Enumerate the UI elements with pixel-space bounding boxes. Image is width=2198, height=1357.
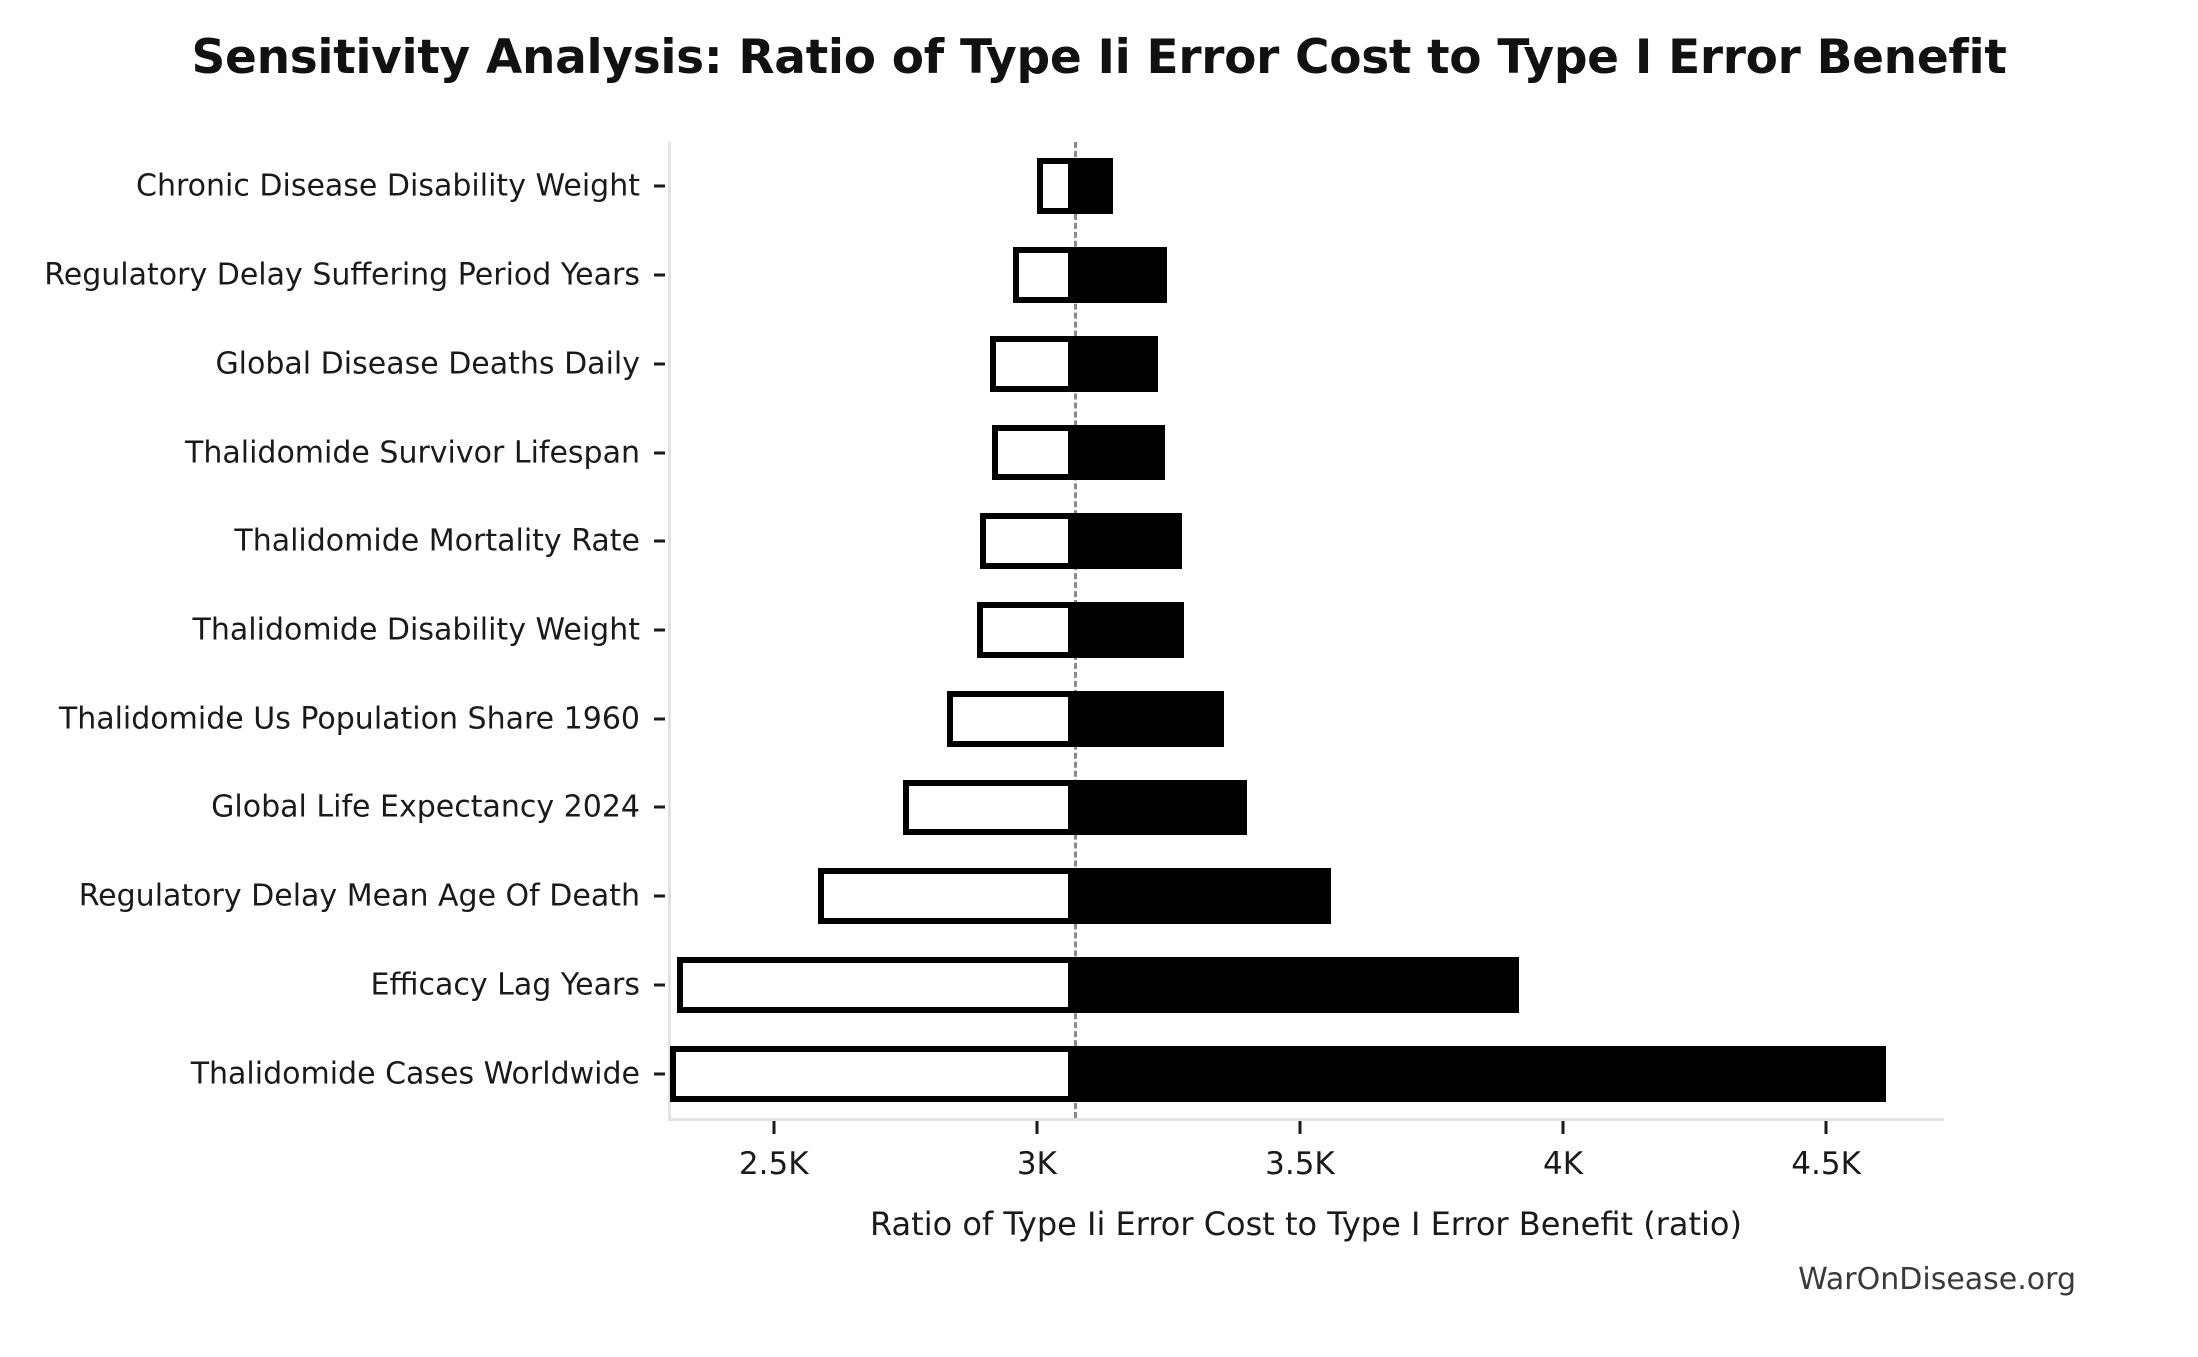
bar-segment-low[interactable] bbox=[977, 602, 1074, 658]
bar-segment-high[interactable] bbox=[1074, 780, 1247, 836]
tornado-bar-row[interactable] bbox=[668, 247, 1944, 303]
x-tick-mark bbox=[772, 1121, 775, 1134]
y-tick-label: Global Disease Deaths Daily bbox=[215, 346, 640, 381]
bar-segment-high[interactable] bbox=[1074, 1046, 1886, 1102]
y-tick-mark bbox=[654, 540, 665, 543]
bar-segment-low[interactable] bbox=[947, 691, 1074, 747]
x-tick-mark bbox=[1035, 1121, 1038, 1134]
tornado-bar-row[interactable] bbox=[668, 602, 1944, 658]
y-tick-mark bbox=[654, 362, 665, 365]
x-tick-label: 3.5K bbox=[1265, 1146, 1335, 1182]
x-tick-mark bbox=[1298, 1121, 1301, 1134]
y-tick-label: Regulatory Delay Suffering Period Years bbox=[44, 258, 640, 293]
bar-segment-low[interactable] bbox=[1037, 158, 1074, 214]
y-tick-mark bbox=[654, 895, 665, 898]
plot-area: 2.5K3K3.5K4K4.5KChronic Disease Disabili… bbox=[668, 142, 1944, 1118]
y-tick-mark bbox=[654, 451, 665, 454]
y-tick-label: Thalidomide Survivor Lifespan bbox=[185, 435, 640, 470]
x-axis-title: Ratio of Type Ii Error Cost to Type I Er… bbox=[668, 1205, 1944, 1243]
y-tick-mark bbox=[654, 806, 665, 809]
y-tick-label: Thalidomide Mortality Rate bbox=[234, 524, 640, 559]
tornado-bar-row[interactable] bbox=[668, 425, 1944, 481]
y-tick-label: Thalidomide Cases Worldwide bbox=[191, 1056, 640, 1091]
bar-segment-low[interactable] bbox=[818, 868, 1074, 924]
tornado-bar-row[interactable] bbox=[668, 957, 1944, 1013]
x-axis-spine bbox=[668, 1118, 1944, 1121]
tornado-bar-row[interactable] bbox=[668, 158, 1944, 214]
y-tick-mark bbox=[654, 717, 665, 720]
tornado-bar-row[interactable] bbox=[668, 513, 1944, 569]
x-tick-label: 4.5K bbox=[1791, 1146, 1861, 1182]
bar-segment-high[interactable] bbox=[1074, 158, 1113, 214]
y-tick-mark bbox=[654, 185, 665, 188]
bar-segment-low[interactable] bbox=[670, 1046, 1074, 1102]
y-tick-label: Global Life Expectancy 2024 bbox=[211, 790, 640, 825]
x-tick-mark bbox=[1562, 1121, 1565, 1134]
bar-segment-low[interactable] bbox=[990, 336, 1074, 392]
tornado-bar-row[interactable] bbox=[668, 691, 1944, 747]
tornado-bar-row[interactable] bbox=[668, 1046, 1944, 1102]
y-tick-label: Regulatory Delay Mean Age Of Death bbox=[79, 879, 640, 914]
bar-segment-low[interactable] bbox=[677, 957, 1074, 1013]
watermark: WarOnDisease.org bbox=[1798, 1262, 2076, 1297]
x-tick-mark bbox=[1825, 1121, 1828, 1134]
tornado-bar-row[interactable] bbox=[668, 336, 1944, 392]
bar-segment-high[interactable] bbox=[1074, 247, 1167, 303]
bar-segment-high[interactable] bbox=[1074, 513, 1182, 569]
y-tick-mark bbox=[654, 1072, 665, 1075]
page-title: Sensitivity Analysis: Ratio of Type Ii E… bbox=[0, 30, 2198, 85]
y-tick-label: Efficacy Lag Years bbox=[371, 967, 640, 1002]
bar-segment-high[interactable] bbox=[1074, 336, 1158, 392]
x-tick-label: 4K bbox=[1543, 1146, 1583, 1182]
x-tick-label: 2.5K bbox=[739, 1146, 809, 1182]
bar-segment-low[interactable] bbox=[992, 425, 1074, 481]
bar-segment-high[interactable] bbox=[1074, 868, 1331, 924]
bar-segment-low[interactable] bbox=[1013, 247, 1074, 303]
y-tick-label: Thalidomide Disability Weight bbox=[193, 613, 640, 648]
bar-segment-high[interactable] bbox=[1074, 691, 1224, 747]
y-tick-mark bbox=[654, 274, 665, 277]
bar-segment-high[interactable] bbox=[1074, 602, 1184, 658]
y-tick-label: Thalidomide Us Population Share 1960 bbox=[59, 701, 640, 736]
bar-segment-low[interactable] bbox=[903, 780, 1074, 836]
bar-segment-high[interactable] bbox=[1074, 957, 1519, 1013]
tornado-bar-row[interactable] bbox=[668, 868, 1944, 924]
tornado-bar-row[interactable] bbox=[668, 780, 1944, 836]
y-tick-label: Chronic Disease Disability Weight bbox=[136, 169, 640, 204]
y-tick-mark bbox=[654, 629, 665, 632]
y-tick-mark bbox=[654, 983, 665, 986]
bar-segment-high[interactable] bbox=[1074, 425, 1165, 481]
x-tick-label: 3K bbox=[1017, 1146, 1057, 1182]
bar-segment-low[interactable] bbox=[980, 513, 1074, 569]
